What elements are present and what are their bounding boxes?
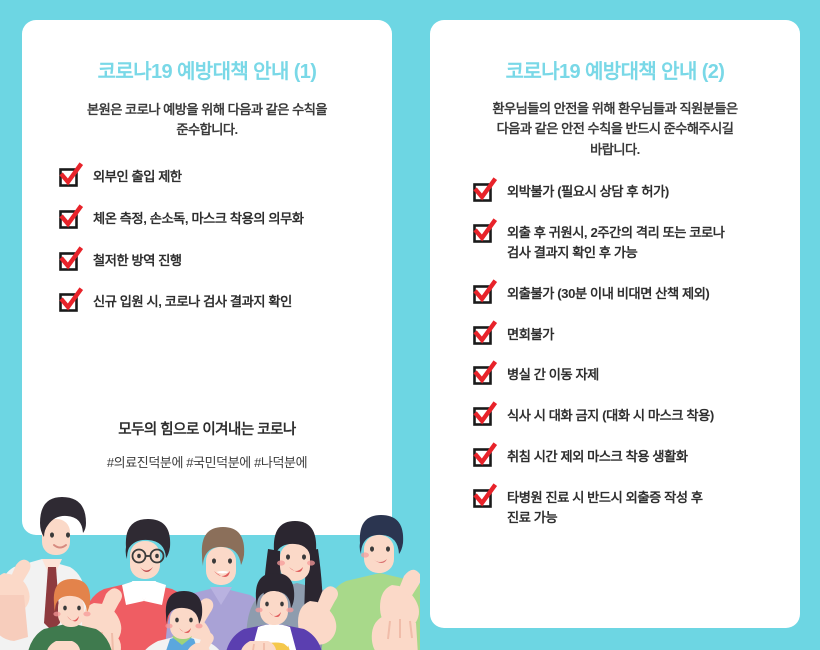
checkbox-checked-icon [474,224,492,242]
card-1-title: 코로나19 예방대책 안내 (1) [22,60,392,84]
checkbox-checked-icon [474,407,492,425]
list-item: 철저한 방역 진행 [60,251,372,271]
checkbox-checked-icon [60,252,78,270]
poster-root: 코로나19 예방대책 안내 (1) 본원은 코로나 예방을 위해 다음과 같은 … [0,0,820,650]
checkbox-checked-icon [474,285,492,303]
list-item-label: 외출 후 귀원시, 2주간의 격리 또는 코로나 검사 결과지 확인 후 가능 [507,223,725,263]
slogan-main-text: 모두의 힘으로 이겨내는 코로나 [22,418,392,439]
prevention-card-1: 코로나19 예방대책 안내 (1) 본원은 코로나 예방을 위해 다음과 같은 … [22,20,392,535]
checkbox-checked-icon [60,210,78,228]
card-1-description: 본원은 코로나 예방을 위해 다음과 같은 수칙을 준수합니다. [22,100,392,141]
slogan-block: 모두의 힘으로 이겨내는 코로나 #의료진덕분에 #국민덕분에 #나덕분에 [22,418,392,471]
list-item-label: 타병원 진료 시 반드시 외출증 작성 후 진료 가능 [507,488,703,528]
list-item-label: 취침 시간 제외 마스크 착용 생활화 [507,447,688,467]
card-2-description: 환우님들의 안전을 위해 환우님들과 직원분들은 다음과 같은 안전 수칙을 반… [430,99,800,160]
card-2-checklist: 외박불가 (필요시 상담 후 허가) 외출 후 귀원시, 2주간의 격리 또는 … [430,182,800,527]
list-item-label: 신규 입원 시, 코로나 검사 결과지 확인 [93,292,292,312]
list-item: 외부인 출입 제한 [60,167,372,187]
list-item-label: 면회불가 [507,325,554,345]
list-item-label: 철저한 방역 진행 [93,251,182,271]
list-item: 면회불가 [474,325,778,345]
list-item-label: 식사 시 대화 금지 (대화 시 마스크 착용) [507,406,714,426]
card-1-checklist: 외부인 출입 제한 체온 측정, 손소독, 마스크 착용의 의무화 [22,167,392,312]
prevention-card-2: 코로나19 예방대책 안내 (2) 환우님들의 안전을 위해 환우님들과 직원분… [430,20,800,628]
list-item: 체온 측정, 손소독, 마스크 착용의 의무화 [60,209,372,229]
checkbox-checked-icon [474,183,492,201]
slogan-hashtags: #의료진덕분에 #국민덕분에 #나덕분에 [22,452,392,471]
checkbox-checked-icon [60,293,78,311]
list-item: 외출 후 귀원시, 2주간의 격리 또는 코로나 검사 결과지 확인 후 가능 [474,223,778,263]
checkbox-checked-icon [474,326,492,344]
list-item-label: 체온 측정, 손소독, 마스크 착용의 의무화 [93,209,304,229]
card-2-title: 코로나19 예방대책 안내 (2) [430,60,800,84]
checkbox-checked-icon [474,366,492,384]
list-item-label: 외출불가 (30분 이내 비대면 산책 제외) [507,284,709,304]
checkbox-checked-icon [474,489,492,507]
list-item-label: 외부인 출입 제한 [93,167,182,187]
list-item: 외박불가 (필요시 상담 후 허가) [474,182,778,202]
list-item: 외출불가 (30분 이내 비대면 산책 제외) [474,284,778,304]
list-item-label: 외박불가 (필요시 상담 후 허가) [507,182,669,202]
list-item: 취침 시간 제외 마스크 착용 생활화 [474,447,778,467]
list-item-label: 병실 간 이동 자제 [507,365,599,385]
list-item: 타병원 진료 시 반드시 외출증 작성 후 진료 가능 [474,488,778,528]
checkbox-checked-icon [474,448,492,466]
list-item: 병실 간 이동 자제 [474,365,778,385]
checkbox-checked-icon [60,168,78,186]
list-item: 신규 입원 시, 코로나 검사 결과지 확인 [60,292,372,312]
list-item: 식사 시 대화 금지 (대화 시 마스크 착용) [474,406,778,426]
